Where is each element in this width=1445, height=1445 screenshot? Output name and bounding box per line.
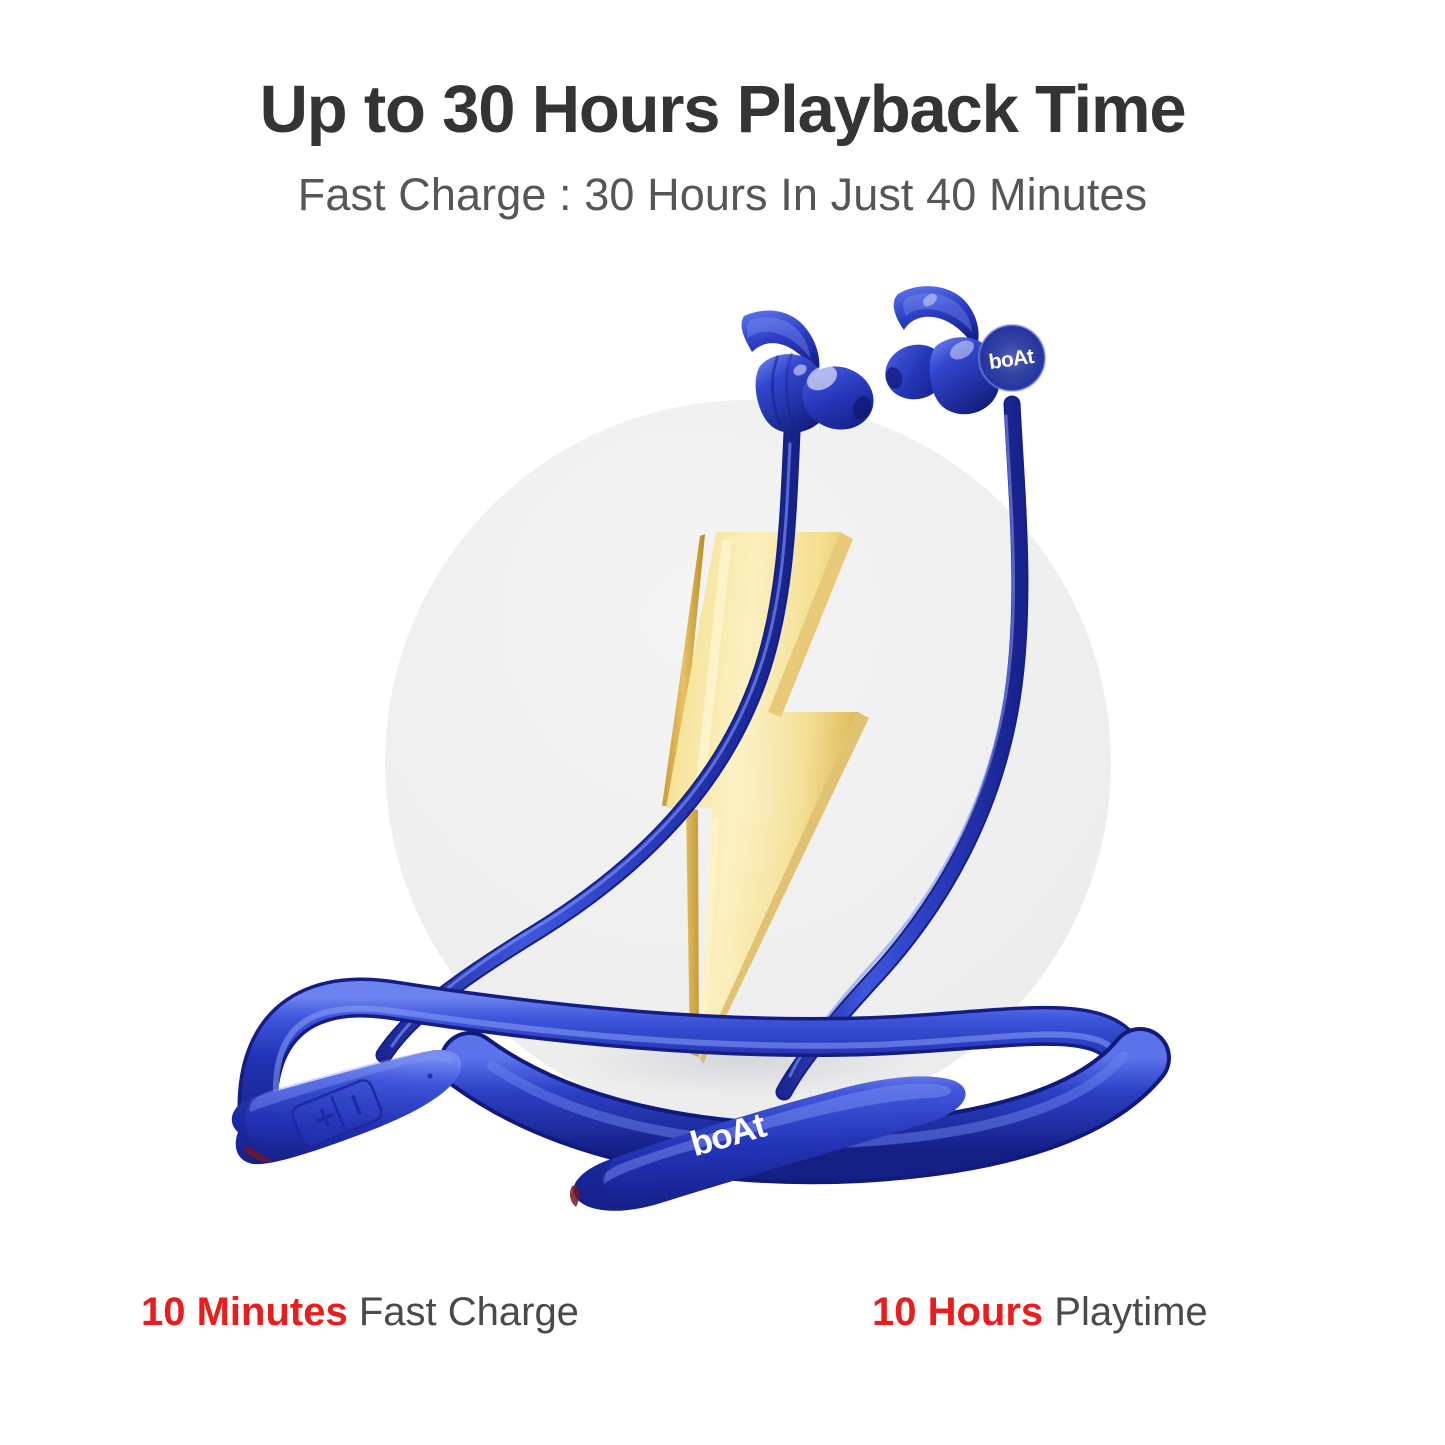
caption-playtime: 10 Hours Playtime [872,1292,1208,1332]
right-earbud: boAt [879,286,1045,414]
microphone-pinhole [427,1073,432,1078]
page-title: Up to 30 Hours Playback Time [0,74,1445,146]
caption-fast-charge-highlight: 10 Minutes [141,1290,348,1334]
caption-fast-charge-rest: Fast Charge [348,1290,579,1334]
caption-playtime-rest: Playtime [1043,1290,1208,1334]
caption-playtime-highlight: 10 Hours [872,1290,1043,1334]
caption-fast-charge: 10 Minutes Fast Charge [141,1292,579,1332]
product-feature-banner: boAt [0,0,1445,1445]
page-subtitle: Fast Charge : 30 Hours In Just 40 Minute… [0,170,1445,220]
